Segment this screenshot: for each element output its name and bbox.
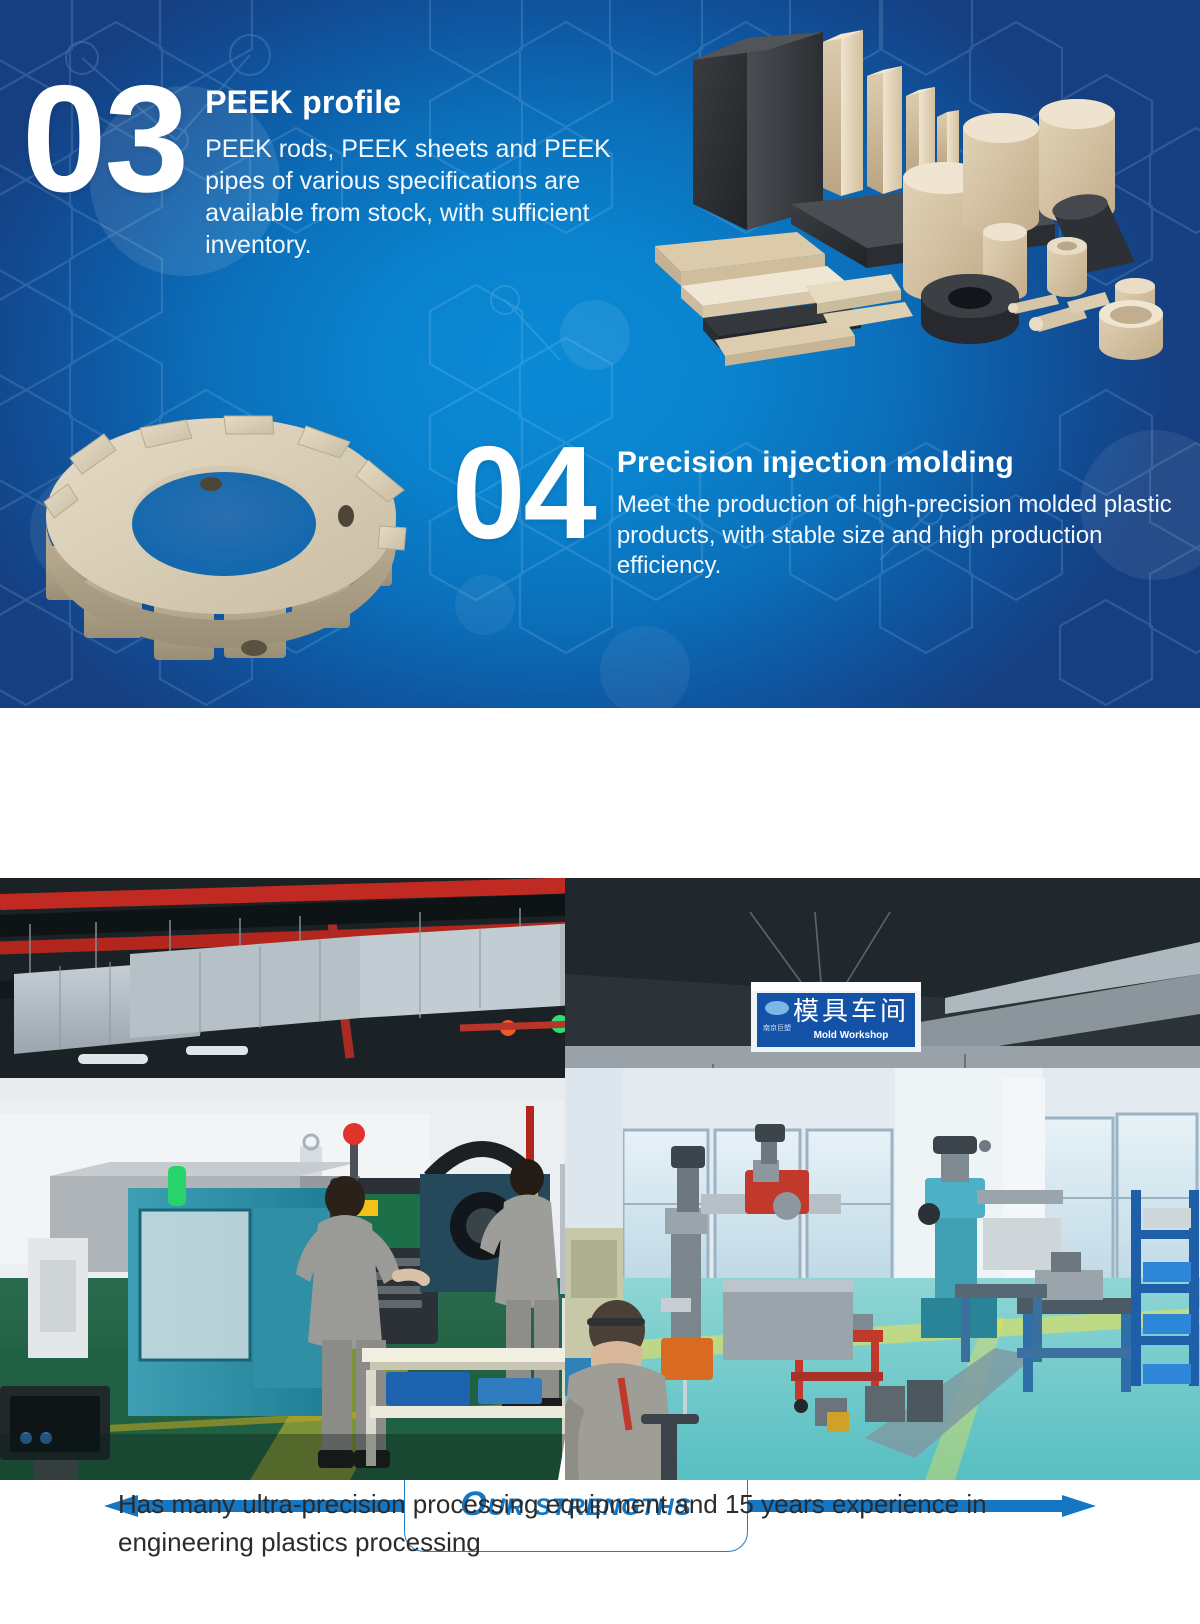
strengths-banner: Our strengths	[0, 708, 1200, 878]
black-block	[693, 32, 823, 230]
tan-cylinder-mid	[963, 113, 1039, 235]
svg-text:Mold Workshop: Mold Workshop	[814, 1030, 889, 1041]
gear-ring-body	[44, 416, 406, 660]
svg-text:模具车间: 模具车间	[793, 996, 909, 1026]
workshop-photo-pair: 南京巨塑 模具车间 Mold Workshop	[0, 878, 1200, 1480]
tan-tube	[1047, 237, 1087, 297]
feature-block-03: 03 PEEK profile PEEK rods, PEEK sheets a…	[22, 70, 662, 261]
feature-body-03: PEEK rods, PEEK sheets and PEEK pipes of…	[205, 133, 662, 261]
feature-title-04: Precision injection molding	[617, 446, 1182, 480]
feature-body-04: Meet the production of high-precision mo…	[617, 490, 1182, 582]
peek-profile-image	[655, 18, 1195, 378]
black-ring	[921, 274, 1019, 344]
svg-text:南京巨塑: 南京巨塑	[763, 1023, 791, 1032]
mold-workshop-photo: 南京巨塑 模具车间 Mold Workshop	[565, 878, 1200, 1480]
feature-number-03: 03	[22, 70, 187, 210]
feature-block-04: 04 Precision injection molding Meet the …	[452, 432, 1182, 582]
decorative-bubble	[600, 626, 690, 708]
promo-page: 03 PEEK profile PEEK rods, PEEK sheets a…	[0, 0, 1200, 1624]
decorative-bubble	[560, 300, 630, 370]
tan-rods	[1008, 292, 1110, 332]
decorative-bubble	[455, 575, 515, 635]
mold-workshop-sign: 南京巨塑 模具车间 Mold Workshop	[751, 982, 921, 1052]
feature-title-03: PEEK profile	[205, 84, 662, 121]
feature-number-04: 04	[452, 432, 595, 553]
tan-tube-wide	[1099, 300, 1163, 360]
page-caption: Has many ultra-precision processing equi…	[0, 1486, 1200, 1561]
precision-molding-image	[28, 398, 438, 688]
hero-panel: 03 PEEK profile PEEK rods, PEEK sheets a…	[0, 0, 1200, 708]
